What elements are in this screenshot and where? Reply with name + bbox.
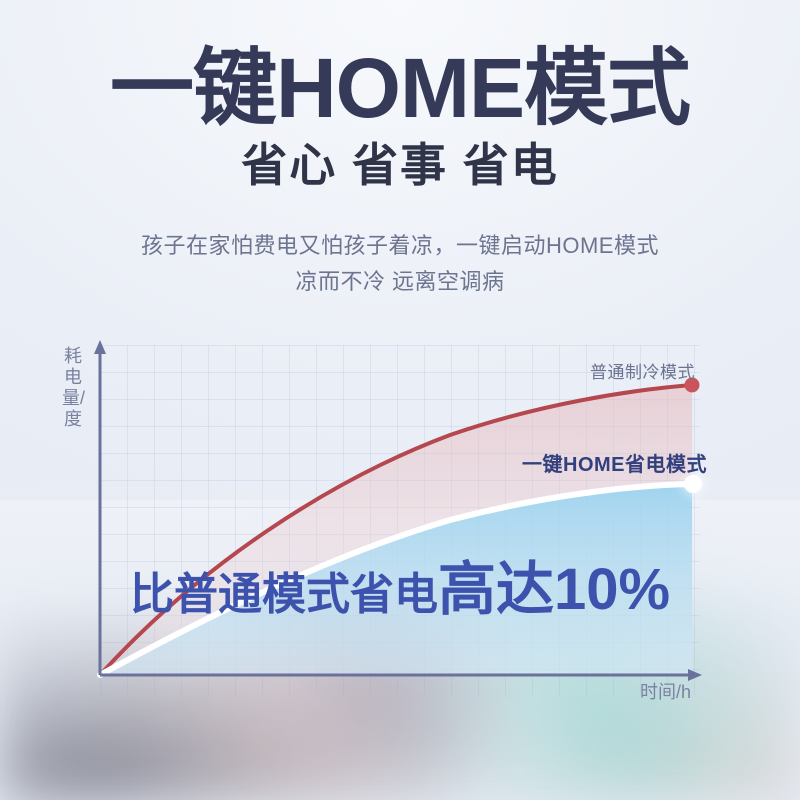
x-axis-label: 时间/h — [640, 678, 691, 704]
page-subtitle: 省心 省事 省电 — [0, 142, 800, 188]
legend-normal-mode: 普通制冷模式 — [590, 358, 695, 383]
energy-consumption-chart: 普通制冷模式 一键HOME省电模式 耗电量/度 时间/h — [0, 320, 800, 720]
y-axis-label: 耗电量/度 — [62, 346, 84, 430]
description-line-2: 凉而不冷 远离空调病 — [0, 264, 800, 300]
home-mode-endpoint-dot — [684, 475, 702, 493]
y-axis-arrow-icon — [94, 340, 106, 354]
savings-claim-value: 高达10% — [438, 557, 670, 622]
page-title: 一键HOME模式 — [0, 46, 800, 130]
promo-poster: 一键HOME模式 省心 省事 省电 孩子在家怕费电又怕孩子着凉，一键启动HOME… — [0, 0, 800, 800]
description-line-1: 孩子在家怕费电又怕孩子着凉，一键启动HOME模式 — [0, 228, 800, 264]
headline-block: 一键HOME模式 省心 省事 省电 — [0, 46, 800, 188]
savings-claim: 比普通模式省电高达10% — [0, 542, 800, 626]
legend-home-mode: 一键HOME省电模式 — [522, 448, 707, 477]
description-block: 孩子在家怕费电又怕孩子着凉，一键启动HOME模式 凉而不冷 远离空调病 — [0, 228, 800, 300]
savings-claim-prefix: 比普通模式省电 — [130, 570, 438, 619]
